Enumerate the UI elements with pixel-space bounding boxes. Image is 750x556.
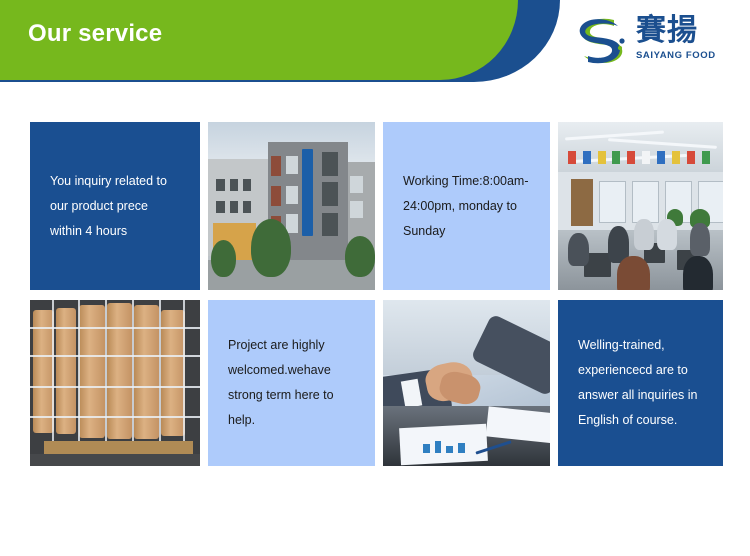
- photo-packed-drums-pallets: [30, 300, 200, 466]
- photo-business-handshake: [383, 300, 550, 466]
- photo-sales-office: [558, 122, 723, 290]
- service-card-working-time-text: Working Time:8:00am-24:00pm, monday to S…: [383, 169, 550, 244]
- service-card-english-support-text: Welling-trained, experiencecd are to ans…: [558, 333, 723, 433]
- logo-english-name: SAIYANG FOOD: [636, 50, 730, 61]
- service-card-english-support: Welling-trained, experiencecd are to ans…: [558, 300, 723, 466]
- photo-factory-building: [208, 122, 375, 290]
- service-card-projects: Project are highly welcomed.wehave stron…: [208, 300, 375, 466]
- brand-logo: 賽揚 SAIYANG FOOD: [570, 10, 730, 72]
- page-title: Our service: [28, 20, 162, 48]
- logo-s-mark-icon: [570, 10, 632, 72]
- service-card-inquiry-text: You inquiry related to our product prece…: [30, 169, 200, 244]
- service-card-inquiry: You inquiry related to our product prece…: [30, 122, 200, 290]
- logo-chinese-name: 賽揚: [636, 14, 730, 48]
- service-card-projects-text: Project are highly welcomed.wehave stron…: [208, 333, 375, 433]
- service-card-working-time: Working Time:8:00am-24:00pm, monday to S…: [383, 122, 550, 290]
- logo-wordmark: 賽揚 SAIYANG FOOD: [636, 14, 730, 70]
